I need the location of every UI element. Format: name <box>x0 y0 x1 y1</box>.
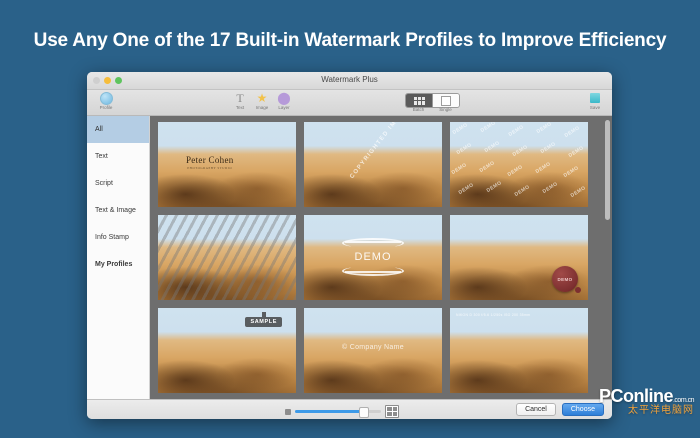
toolbar-save-button[interactable]: Save <box>580 91 610 111</box>
choose-button[interactable]: Choose <box>562 403 604 416</box>
tile-text: DEMO <box>507 164 524 178</box>
single-square-icon <box>441 96 451 106</box>
tile-text: DEMO <box>563 165 580 179</box>
thumbnail-stripes[interactable] <box>158 215 296 300</box>
window-title: Watermark Plus <box>87 75 612 84</box>
tile-text: DEMO <box>451 162 468 176</box>
sidebar-item-text[interactable]: Text <box>87 143 149 170</box>
tile-text: DEMO <box>480 122 497 134</box>
window-body: All Text Script Text & Image Info Stamp … <box>87 116 612 399</box>
bottom-bar: Cancel Choose <box>87 399 612 419</box>
thumbnail-wax-seal[interactable]: DEMO <box>450 215 588 300</box>
app-window: Watermark Plus Profile T Text ★ Image ⬤ … <box>87 72 612 419</box>
tile-text: DEMO <box>514 184 531 198</box>
logo-pc: PC <box>599 386 623 406</box>
tile-text: DEMO <box>570 185 587 199</box>
profiles-gallery[interactable]: Peter Cohen PHOTOGRAPHY STUDIO COPYRIGHT… <box>150 116 612 399</box>
toolbar: Profile T Text ★ Image ⬤ Layer Batch <box>87 90 612 116</box>
profile-circle-icon <box>91 91 121 105</box>
tile-text: DEMO <box>458 182 475 196</box>
tile-text: DEMO <box>512 144 529 158</box>
tile-text: DEMO <box>564 125 581 139</box>
ribbon-watermark: DEMO <box>345 241 401 273</box>
tile-text: DEMO <box>479 160 496 174</box>
thumbnail-grid: Peter Cohen PHOTOGRAPHY STUDIO COPYRIGHT… <box>158 122 612 393</box>
tiled-watermark: DEMO DEMO DEMO DEMO DEMO DEMO DEMO DEMO … <box>450 122 588 207</box>
cancel-button[interactable]: Cancel <box>516 403 556 416</box>
tile-text: DEMO <box>508 124 525 138</box>
page-title: Use Any One of the 17 Built-in Watermark… <box>0 30 700 52</box>
sidebar-item-info-stamp[interactable]: Info Stamp <box>87 224 149 251</box>
sidebar-item-label: All <box>95 126 103 133</box>
signature-watermark: Peter Cohen PHOTOGRAPHY STUDIO <box>186 155 234 170</box>
dialog-buttons: Cancel Choose <box>516 403 604 416</box>
sidebar-item-label: Script <box>95 180 113 187</box>
sidebar-item-label: Text & Image <box>95 207 136 214</box>
small-thumbnail-icon <box>285 409 291 415</box>
batch-mode-button[interactable] <box>406 94 432 107</box>
tile-text: DEMO <box>456 142 473 156</box>
zoom-slider-track[interactable] <box>295 410 381 413</box>
logo-line-1: PConline.com.cn <box>599 387 694 405</box>
sidebar-item-all[interactable]: All <box>87 116 149 143</box>
sidebar-item-label: Text <box>95 153 108 160</box>
tile-text: DEMO <box>540 141 557 155</box>
mode-labels: Batch Single <box>405 107 459 112</box>
zoom-slider[interactable] <box>285 405 399 418</box>
sidebar-item-label: Info Stamp <box>95 234 129 241</box>
toolbar-profile-label: Profile <box>91 106 121 111</box>
sidebar-item-script[interactable]: Script <box>87 170 149 197</box>
signature-subtitle: PHOTOGRAPHY STUDIO <box>186 166 234 170</box>
copyright-watermark: © Company Name <box>304 344 442 351</box>
large-thumbnail-icon <box>385 405 399 418</box>
info-stamp-watermark: NIKON D 300 f/5.6 1/250s ISO 200 35mm <box>456 313 530 317</box>
tile-text: DEMO <box>452 122 469 136</box>
diagonal-watermark-text: COPYRIGHTED IMAGE <box>343 122 415 188</box>
profiles-sidebar: All Text Script Text & Image Info Stamp … <box>87 116 150 399</box>
single-mode-button[interactable] <box>432 94 459 107</box>
thumbnail-ribbon-demo[interactable]: DEMO <box>304 215 442 300</box>
tile-text: DEMO <box>568 145 585 159</box>
thumbnail-sample-tag[interactable]: SAMPLE <box>158 308 296 393</box>
sidebar-item-my-profiles[interactable]: My Profiles <box>87 251 149 278</box>
stripe-pattern-watermark <box>158 215 296 300</box>
toolbar-save-label: Save <box>580 106 610 111</box>
layer-icon: ⬤ <box>269 91 299 105</box>
single-label: Single <box>432 107 459 112</box>
tile-text: DEMO <box>536 122 553 135</box>
sidebar-item-text-and-image[interactable]: Text & Image <box>87 197 149 224</box>
thumbnail-diagonal-text[interactable]: COPYRIGHTED IMAGE <box>304 122 442 207</box>
site-watermark-logo: PConline.com.cn 太平洋电脑网 <box>599 387 694 416</box>
zoom-slider-fill <box>295 410 362 413</box>
logo-line-2: 太平洋电脑网 <box>599 406 694 416</box>
logo-domain: .com.cn <box>673 397 694 404</box>
gallery-scrollbar[interactable] <box>605 120 610 220</box>
thumbnail-info-stamp[interactable]: NIKON D 300 f/5.6 1/250s ISO 200 35mm <box>450 308 588 393</box>
batch-label: Batch <box>405 107 432 112</box>
window-titlebar: Watermark Plus <box>87 72 612 90</box>
grid-icon <box>414 97 425 105</box>
tile-text: DEMO <box>484 140 501 154</box>
tile-text: DEMO <box>535 161 552 175</box>
thumbnail-signature[interactable]: Peter Cohen PHOTOGRAPHY STUDIO <box>158 122 296 207</box>
zoom-slider-knob[interactable] <box>359 407 369 418</box>
toolbar-profile-button[interactable]: Profile <box>91 91 121 111</box>
signature-name: Peter Cohen <box>186 155 234 165</box>
sidebar-item-label: My Profiles <box>95 261 132 268</box>
mode-segmented-control[interactable] <box>405 93 460 108</box>
tile-text: DEMO <box>542 181 559 195</box>
tag-watermark: SAMPLE <box>245 317 282 327</box>
wax-seal-watermark: DEMO <box>552 266 578 292</box>
tile-text: DEMO <box>486 180 503 194</box>
thumbnail-copyright[interactable]: © Company Name <box>304 308 442 393</box>
thumbnail-tiled-demo[interactable]: DEMO DEMO DEMO DEMO DEMO DEMO DEMO DEMO … <box>450 122 588 207</box>
toolbar-layer-button[interactable]: ⬤ Layer <box>269 91 299 111</box>
save-icon <box>580 91 610 105</box>
logo-online: online <box>623 386 673 406</box>
toolbar-layer-label: Layer <box>269 106 299 111</box>
